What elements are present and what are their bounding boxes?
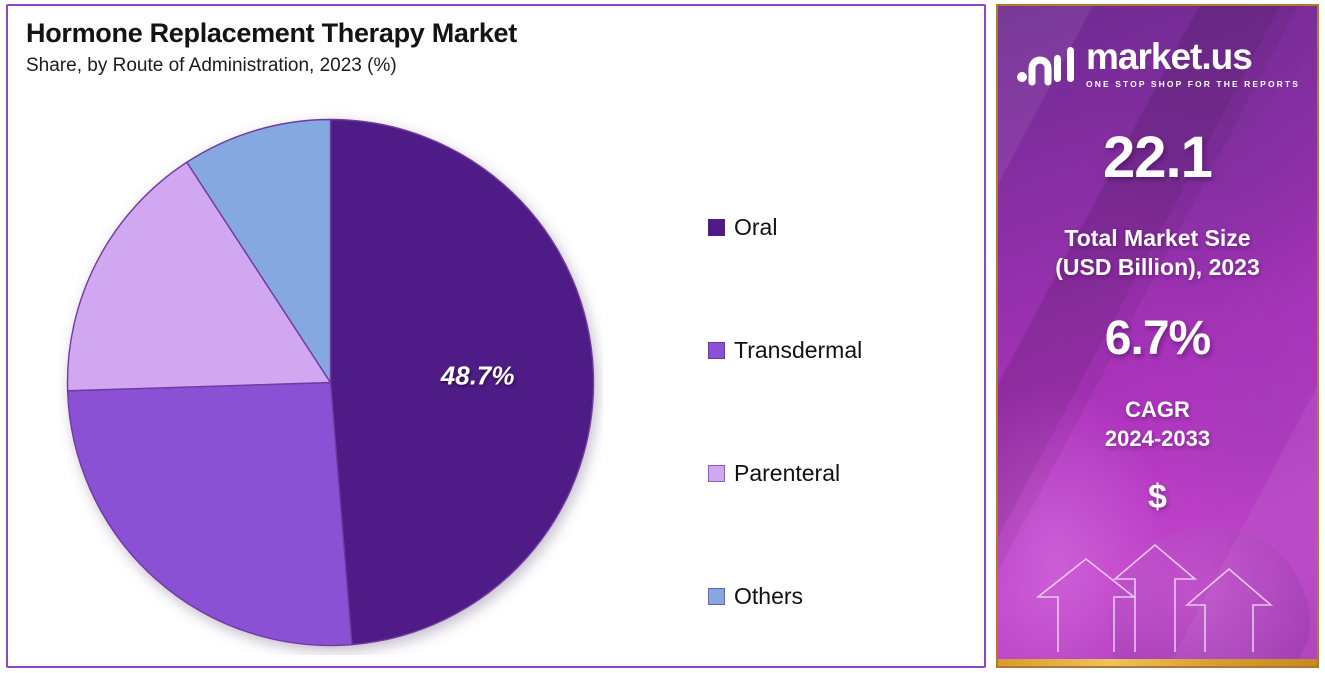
legend-label-oral: Oral bbox=[734, 214, 777, 241]
page-subtitle: Share, by Route of Administration, 2023 … bbox=[26, 55, 517, 77]
market-size-caption: Total Market Size (USD Billion), 2023 bbox=[998, 224, 1317, 283]
brand-logo-text: market.us ONE STOP SHOP FOR THE REPORTS bbox=[1086, 38, 1300, 89]
pie-slice-oral[interactable] bbox=[331, 120, 594, 645]
legend-swatch-icon-others bbox=[708, 588, 725, 605]
legend-label-transdermal: Transdermal bbox=[734, 337, 862, 364]
legend-swatch-icon-oral bbox=[708, 219, 725, 236]
brand-logo[interactable]: market.us ONE STOP SHOP FOR THE REPORTS bbox=[998, 38, 1317, 89]
legend-item-transdermal[interactable]: Transdermal bbox=[708, 289, 968, 412]
market-size-value: 22.1 bbox=[998, 124, 1317, 191]
brand-panel: market.us ONE STOP SHOP FOR THE REPORTS … bbox=[996, 4, 1319, 668]
pie-chart: 48.7% bbox=[58, 110, 603, 655]
dollar-sign-icon: $ bbox=[998, 478, 1317, 517]
chart-panel: Hormone Replacement Therapy Market Share… bbox=[6, 4, 986, 668]
pie-slice-group bbox=[68, 120, 594, 646]
pie-chart-svg bbox=[58, 110, 603, 655]
market-size-caption-line1: Total Market Size bbox=[998, 224, 1317, 253]
cagr-value: 6.7% bbox=[998, 311, 1317, 366]
brand-bottom-accent-bar bbox=[998, 659, 1317, 666]
brand-wordmark: market.us bbox=[1086, 38, 1300, 75]
legend-item-parenteral[interactable]: Parenteral bbox=[708, 412, 968, 535]
title-block: Hormone Replacement Therapy Market Share… bbox=[26, 18, 517, 77]
legend-swatch-icon-transdermal bbox=[708, 342, 725, 359]
pie-slice-transdermal[interactable] bbox=[68, 383, 352, 646]
legend-label-parenteral: Parenteral bbox=[734, 460, 840, 487]
brand-tagline: ONE STOP SHOP FOR THE REPORTS bbox=[1086, 79, 1300, 89]
page-title: Hormone Replacement Therapy Market bbox=[26, 18, 517, 49]
cagr-caption-line2: 2024-2033 bbox=[998, 425, 1317, 454]
screenshot-root: Hormone Replacement Therapy Market Share… bbox=[0, 0, 1325, 673]
legend-item-others[interactable]: Others bbox=[708, 535, 968, 658]
market-us-logo-mark-icon bbox=[1015, 41, 1077, 87]
chart-legend: Oral Transdermal Parenteral Others bbox=[708, 166, 968, 658]
legend-label-others: Others bbox=[734, 583, 803, 610]
cagr-caption: CAGR 2024-2033 bbox=[998, 396, 1317, 453]
legend-swatch-icon-parenteral bbox=[708, 465, 725, 482]
cagr-caption-line1: CAGR bbox=[998, 396, 1317, 425]
growth-arrows-icon bbox=[998, 539, 1319, 659]
legend-item-oral[interactable]: Oral bbox=[708, 166, 968, 289]
market-size-caption-line2: (USD Billion), 2023 bbox=[998, 253, 1317, 282]
